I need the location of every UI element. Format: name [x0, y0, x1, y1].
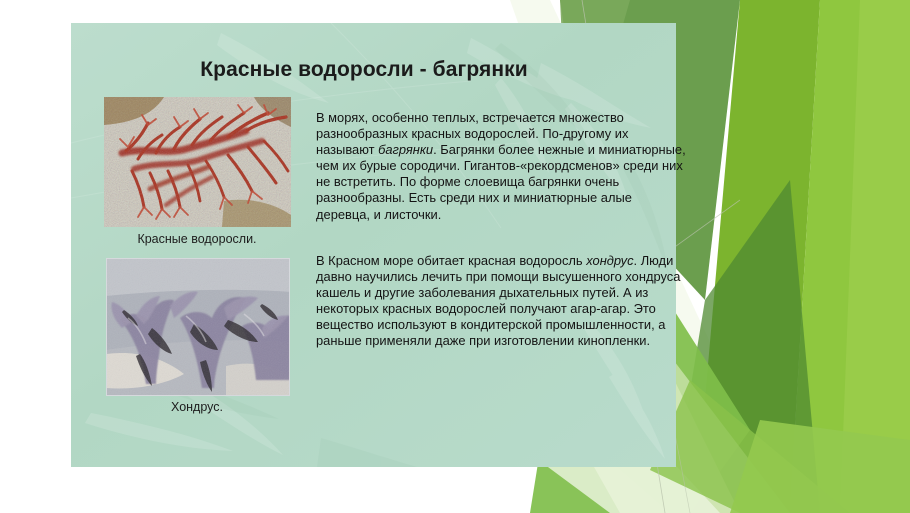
- presentation-slide: Красные водоросли - багрянки: [0, 0, 910, 513]
- paragraph-2: В Красном море обитает красная водоросль…: [316, 253, 688, 350]
- chondrus-photo: [106, 258, 290, 396]
- red-algae-photo: [104, 97, 291, 227]
- red-algae-caption: Красные водоросли.: [82, 232, 312, 247]
- emphasis-term: багрянки: [378, 142, 433, 157]
- page-title: Красные водоросли - багрянки: [149, 58, 579, 82]
- text-run: В Красном море обитает красная водоросль: [316, 253, 586, 268]
- paragraph-1: В морях, особенно теплых, встречается мн…: [316, 110, 688, 223]
- emphasis-term: хондрус: [586, 253, 633, 268]
- chondrus-caption: Хондрус.: [82, 400, 312, 415]
